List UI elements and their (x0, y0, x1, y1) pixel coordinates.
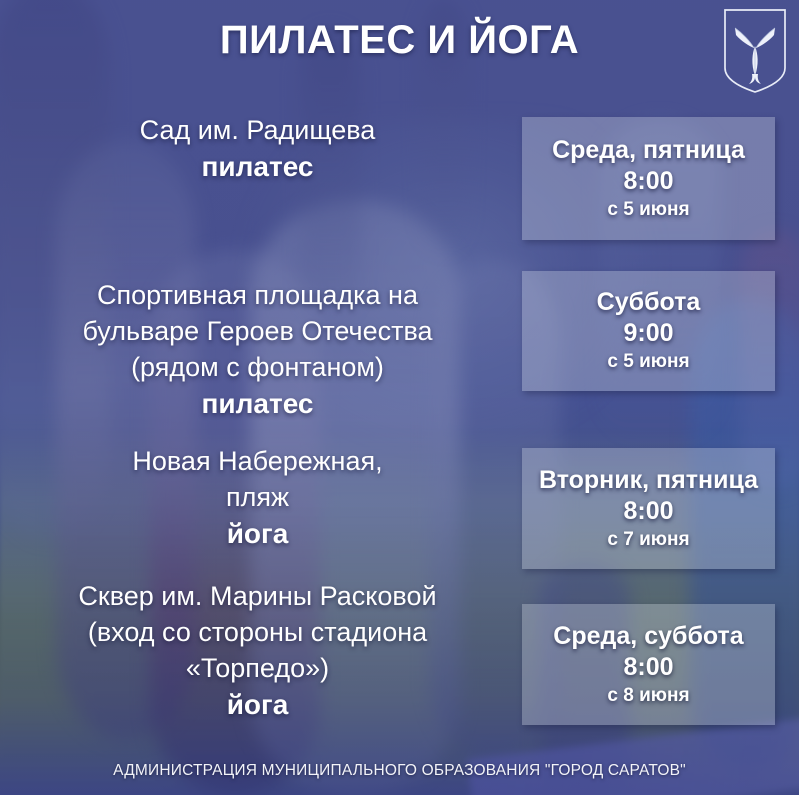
schedule-start-date: с 8 июня (522, 683, 775, 709)
schedule-card: Суббота 9:00 с 5 июня (522, 271, 775, 391)
location-line: Сад им. Радищева (0, 112, 515, 148)
schedule-start-date: с 5 июня (522, 197, 775, 223)
location-block: Спортивная площадка на бульваре Героев О… (0, 277, 515, 423)
location-block: Сквер им. Марины Расковой (вход со сторо… (0, 578, 515, 724)
schedule-card: Среда, суббота 8:00 с 8 июня (522, 604, 775, 725)
schedule-days: Среда, пятница (522, 135, 775, 166)
schedule-time: 9:00 (522, 318, 775, 349)
schedule-time: 8:00 (522, 496, 775, 527)
location-discipline: пилатес (0, 148, 515, 186)
schedule-days: Вторник, пятница (522, 465, 775, 496)
schedule-time: 8:00 (522, 166, 775, 197)
location-line: Сквер им. Марины Расковой (0, 578, 515, 614)
schedule-days: Суббота (522, 287, 775, 318)
footer-attribution: АДМИНИСТРАЦИЯ МУНИЦИПАЛЬНОГО ОБРАЗОВАНИЯ… (0, 762, 799, 780)
schedule-time: 8:00 (522, 652, 775, 683)
location-discipline: йога (0, 686, 515, 724)
location-block: Новая Набережная, пляж йога (0, 443, 515, 553)
location-line: пляж (0, 479, 515, 515)
location-line: (рядом с фонтаном) (0, 349, 515, 385)
location-line: «Торпедо») (0, 650, 515, 686)
schedule-days: Среда, суббота (522, 621, 775, 652)
location-discipline: пилатес (0, 385, 515, 423)
location-discipline: йога (0, 515, 515, 553)
saratov-coat-of-arms-icon (723, 8, 787, 94)
pilates-yoga-poster: ПИЛАТЕС И ЙОГА Сад им. Радищева пилатес (0, 0, 799, 795)
page-title: ПИЛАТЕС И ЙОГА (0, 18, 799, 63)
location-line: Новая Набережная, (0, 443, 515, 479)
schedule-start-date: с 7 июня (522, 527, 775, 553)
location-block: Сад им. Радищева пилатес (0, 112, 515, 186)
schedule-start-date: с 5 июня (522, 349, 775, 375)
schedule-card: Вторник, пятница 8:00 с 7 июня (522, 448, 775, 569)
location-line: (вход со стороны стадиона (0, 614, 515, 650)
schedule-card: Среда, пятница 8:00 с 5 июня (522, 117, 775, 240)
location-line: бульваре Героев Отечества (0, 313, 515, 349)
location-line: Спортивная площадка на (0, 277, 515, 313)
